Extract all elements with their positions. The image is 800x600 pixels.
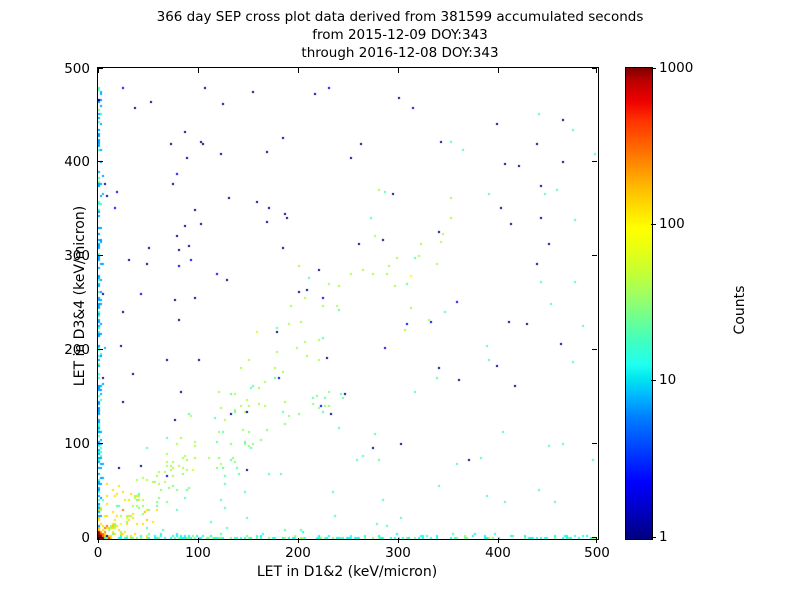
x-tick-top-100 [198, 68, 199, 73]
y-tick-100 [98, 443, 103, 444]
colorbar-ticklabel-10: 10 [659, 372, 676, 388]
y-tick-200 [98, 349, 103, 350]
y-tick-right-200 [592, 349, 597, 350]
colorbar-tick-1000 [651, 68, 656, 69]
title-line-2: from 2015-12-09 DOY:343 [0, 26, 800, 44]
y-tick-300 [98, 255, 103, 256]
colorbar-ticklabel-100: 100 [659, 216, 685, 232]
y-tick-right-100 [592, 443, 597, 444]
figure-title: 366 day SEP cross plot data derived from… [0, 8, 800, 62]
y-tick-right-500 [592, 68, 597, 69]
title-line-1: 366 day SEP cross plot data derived from… [0, 8, 800, 26]
y-tick-400 [98, 161, 103, 162]
x-tick-top-200 [298, 68, 299, 73]
y-tick-0 [98, 537, 103, 538]
colorbar-ticklabel-1000: 1000 [659, 60, 693, 76]
scatter-heatmap-canvas [98, 68, 598, 539]
y-tick-right-300 [592, 255, 597, 256]
y-axis-label: LET in D3&4 (keV/micron) [72, 121, 88, 471]
colorbar-tick-100 [651, 224, 656, 225]
colorbar-label: Counts [732, 210, 748, 410]
x-tick-300 [398, 538, 399, 543]
x-tick-top-300 [398, 68, 399, 73]
x-ticklabel-300: 300 [368, 545, 428, 561]
colorbar-tick-10 [651, 380, 656, 381]
y-tick-right-0 [592, 537, 597, 538]
colorbar-tick-1 [651, 537, 656, 538]
x-ticklabel-400: 400 [468, 545, 528, 561]
x-ticklabel-0: 0 [68, 545, 128, 561]
x-ticklabel-500: 500 [567, 545, 627, 561]
x-tick-400 [498, 538, 499, 543]
colorbar [625, 67, 653, 540]
x-ticklabel-200: 200 [268, 545, 328, 561]
x-tick-top-400 [498, 68, 499, 73]
y-tick-right-400 [592, 161, 597, 162]
y-tick-500 [98, 68, 103, 69]
x-tick-200 [298, 538, 299, 543]
y-ticklabel-0: 0 [40, 530, 90, 546]
x-tick-500 [596, 538, 597, 543]
plot-area [97, 67, 599, 540]
x-tick-100 [198, 538, 199, 543]
x-tick-0 [98, 538, 99, 543]
y-ticklabel-500: 500 [40, 61, 90, 77]
colorbar-ticklabel-1: 1 [659, 529, 668, 545]
x-axis-label: LET in D1&2 (keV/micron) [97, 564, 597, 580]
x-ticklabel-100: 100 [168, 545, 228, 561]
colorbar-gradient [626, 68, 652, 539]
